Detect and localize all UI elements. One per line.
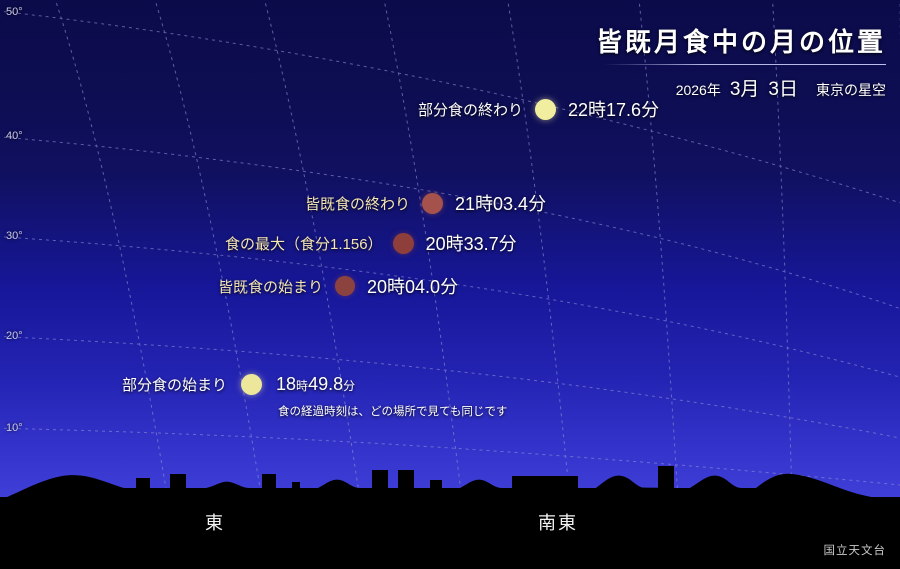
event-eclipse-max: 食の最大（食分1.156） 20時33.7分 <box>225 230 517 256</box>
event-time-hour: 18 <box>276 374 296 394</box>
subtitle-day: 3日 <box>768 79 798 100</box>
event-totality-start: 皆既食の始まり 20時04.0分 <box>218 273 458 299</box>
moon-icon-partial-end <box>535 99 556 120</box>
event-time: 18時49.8分 <box>276 374 355 395</box>
event-time: 22時17.6分 <box>568 96 659 122</box>
timing-note: 食の経過時刻は、どの場所で見ても同じです <box>278 403 507 419</box>
credit-label: 国立天文台 <box>824 542 887 558</box>
direction-label-east: 東 <box>205 509 225 535</box>
altitude-label-40: 40° <box>6 130 23 142</box>
subtitle-year: 2026年 <box>676 82 721 98</box>
title-divider <box>604 64 886 65</box>
event-totality-end: 皆既食の終わり 21時03.4分 <box>305 190 546 216</box>
event-time-minute: 49.8 <box>308 374 343 394</box>
moon-icon-partial-start <box>241 374 262 395</box>
altitude-label-30: 30° <box>6 230 23 242</box>
header: 皆既月食中の月の位置 2026年3月3日東京の星空 <box>596 22 886 101</box>
event-partial-end: 部分食の終わり 22時17.6分 <box>418 96 659 122</box>
subtitle-month: 3月 <box>730 79 760 100</box>
event-time-minute-unit: 分 <box>343 379 355 393</box>
event-partial-start: 部分食の始まり 18時49.8分 <box>122 374 355 395</box>
eclipse-diagram: 50° 40° 30° 20° 10° 皆既月食中の月の位置 2026年3月3日… <box>0 0 900 569</box>
event-label: 食の最大 <box>225 233 285 254</box>
ground-plane <box>0 497 900 569</box>
altitude-label-20: 20° <box>6 330 23 342</box>
event-label: 皆既食の始まり <box>218 276 323 297</box>
event-label: 部分食の始まり <box>122 374 227 395</box>
event-label: 部分食の終わり <box>418 99 523 120</box>
event-time: 20時04.0分 <box>367 273 458 299</box>
event-time: 20時33.7分 <box>426 230 517 256</box>
event-time-hour-unit: 時 <box>296 379 308 393</box>
altitude-label-50: 50° <box>6 6 23 18</box>
subtitle-location: 東京の星空 <box>816 82 886 98</box>
moon-icon-totality-start <box>335 276 355 296</box>
event-label: 皆既食の終わり <box>305 193 410 214</box>
page-title: 皆既月食中の月の位置 <box>596 22 886 59</box>
moon-icon-eclipse-max <box>393 233 414 254</box>
moon-icon-totality-end <box>422 193 443 214</box>
event-time: 21時03.4分 <box>455 190 546 216</box>
event-magnitude: （食分1.156） <box>285 233 383 254</box>
direction-label-southeast: 南東 <box>538 509 578 535</box>
